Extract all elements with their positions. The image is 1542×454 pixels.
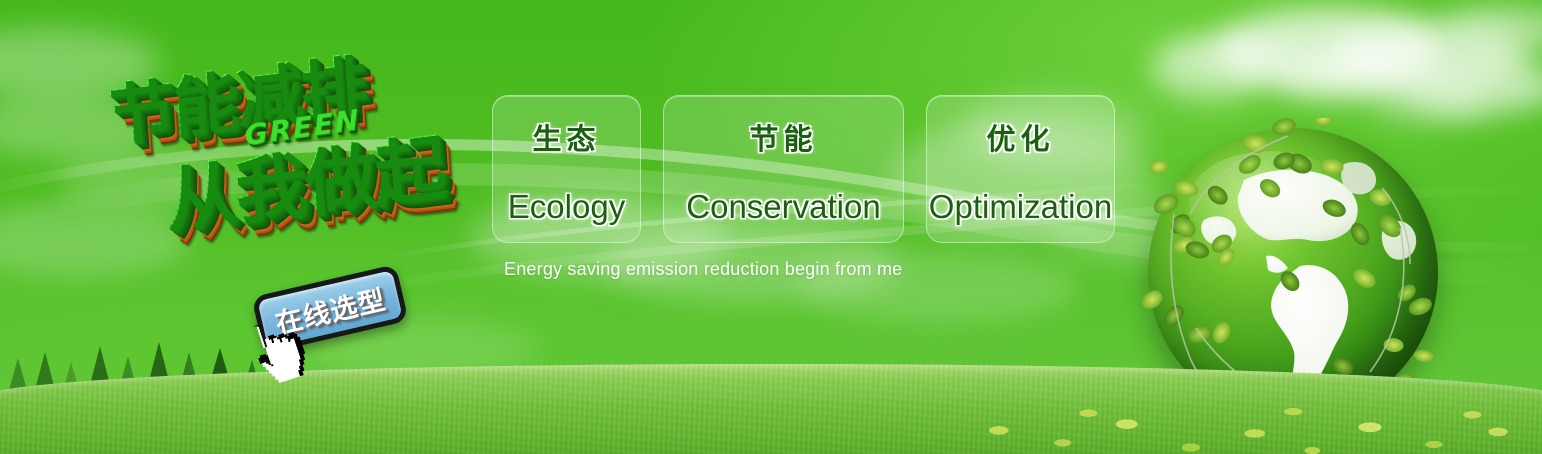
scattered-leaves <box>922 382 1542 454</box>
feature-en-label: Optimization <box>929 188 1112 226</box>
feature-box-conservation[interactable]: 节能 Conservation <box>663 95 904 243</box>
feature-box-group: 生态 Ecology 节能 Conservation 优化 Optimizati… <box>492 95 1115 243</box>
tagline: Energy saving emission reduction begin f… <box>504 259 902 280</box>
green-energy-banner: 节能减排 GREEN 从我做起 在线选型 生态 Ecology 节能 Conse… <box>0 0 1542 454</box>
globe-highlight <box>1189 151 1351 250</box>
grass-field <box>0 364 1542 454</box>
feature-cn-label: 生态 <box>532 116 600 158</box>
feature-cn-label: 优化 <box>986 116 1054 158</box>
feature-box-optimization[interactable]: 优化 Optimization <box>926 95 1115 243</box>
feature-box-ecology[interactable]: 生态 Ecology <box>492 95 641 243</box>
feature-en-label: Ecology <box>508 188 625 226</box>
feature-en-label: Conservation <box>686 188 880 226</box>
feature-cn-label: 节能 <box>749 116 817 158</box>
hero-title: 节能减排 GREEN 从我做起 <box>88 23 493 280</box>
